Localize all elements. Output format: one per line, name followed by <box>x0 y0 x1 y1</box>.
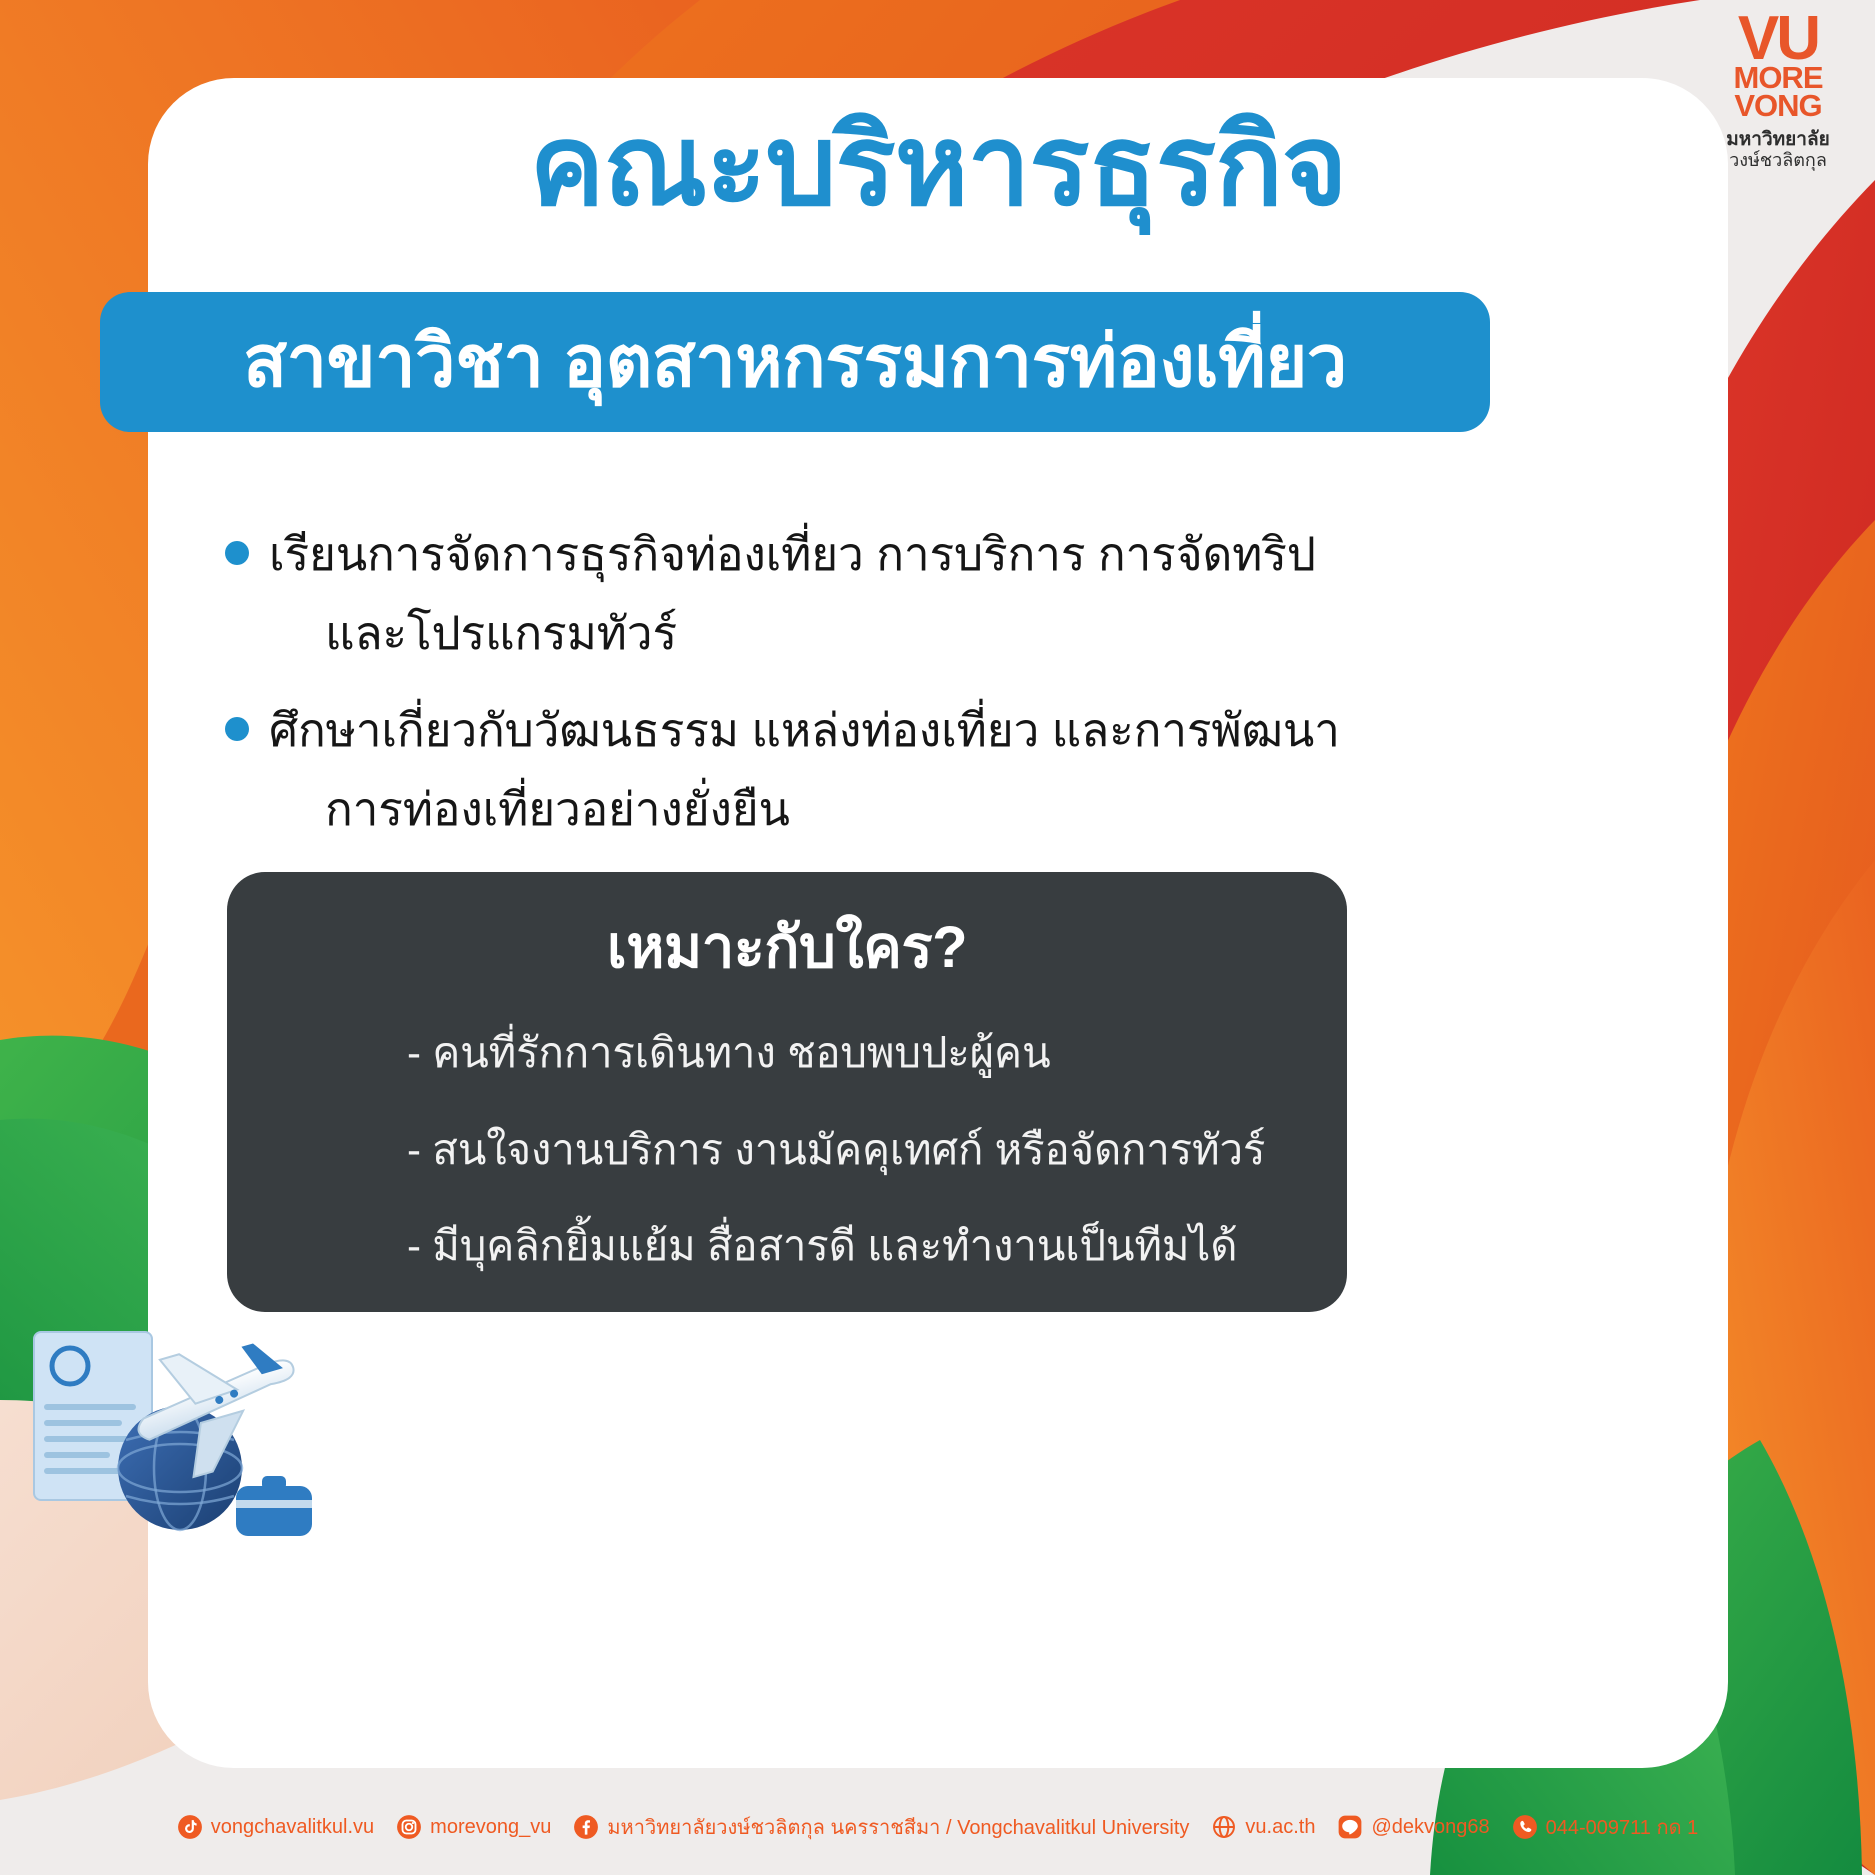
logo-vu-text: VU <box>1703 14 1853 64</box>
bullet-text: ศึกษาเกี่ยวกับวัฒนธรรม แหล่งท่องเที่ยว แ… <box>269 691 1340 849</box>
faculty-title: คณะบริหารธุรกิจ <box>503 96 1372 236</box>
list-item: - สนใจงานบริการ งานมัคคุเทศก์ หรือจัดการ… <box>407 1124 1347 1177</box>
list-item: - คนที่รักการเดินทาง ชอบพบปะผู้คน <box>407 1027 1347 1080</box>
contact-label: @dekvong68 <box>1371 1816 1489 1839</box>
contact-instagram[interactable]: morevong_vu <box>396 1814 551 1840</box>
faculty-title-wrap: คณะบริหารธุรกิจ <box>148 96 1728 236</box>
bullet-line-1: เรียนการจัดการธุรกิจท่องเที่ยว การบริการ… <box>269 528 1316 580</box>
contact-phone[interactable]: 044-009711 กด 1 <box>1512 1811 1699 1843</box>
suitcase-icon <box>236 1476 312 1536</box>
footer-contact-bar: vongchavalitkul.vu morevong_vu มหาวิทยาล… <box>0 1811 1875 1843</box>
bullet-line-2: การท่องเที่ยวอย่างยั่งยืน <box>269 770 1340 849</box>
globe-icon <box>1211 1814 1237 1840</box>
bullet-line-2: และโปรแกรมทัวร์ <box>269 594 1316 673</box>
contact-line[interactable]: @dekvong68 <box>1337 1814 1489 1840</box>
phone-icon <box>1512 1814 1538 1840</box>
contact-label: มหาวิทยาลัยวงษ์ชวลิตกุล นครราชสีมา / Von… <box>607 1811 1189 1843</box>
contact-website[interactable]: vu.ac.th <box>1211 1814 1315 1840</box>
contact-label: vu.ac.th <box>1245 1816 1315 1839</box>
bullet-dot-icon <box>225 541 249 565</box>
logo-thai-line1: มหาวิทยาลัย <box>1703 129 1853 151</box>
bullet-line-1: ศึกษาเกี่ยวกับวัฒนธรรม แหล่งท่องเที่ยว แ… <box>269 704 1340 756</box>
who-panel-list: - คนที่รักการเดินทาง ชอบพบปะผู้คน - สนใจ… <box>227 1027 1347 1273</box>
list-item: เรียนการจัดการธุรกิจท่องเที่ยว การบริการ… <box>225 515 1525 673</box>
instagram-icon <box>396 1814 422 1840</box>
list-item: ศึกษาเกี่ยวกับวัฒนธรรม แหล่งท่องเที่ยว แ… <box>225 691 1525 849</box>
list-item: - มีบุคลิกยิ้มแย้ม สื่อสารดี และทำงานเป็… <box>407 1220 1347 1273</box>
logo-vong-text: VONG <box>1703 92 1853 121</box>
program-highlights-list: เรียนการจัดการธุรกิจท่องเที่ยว การบริการ… <box>225 515 1525 867</box>
who-is-it-for-panel: เหมาะกับใคร? - คนที่รักการเดินทาง ชอบพบป… <box>227 872 1347 1312</box>
contact-label: morevong_vu <box>430 1816 551 1839</box>
travel-illustration <box>22 1300 382 1560</box>
bullet-dot-icon <box>225 717 249 741</box>
bullet-text: เรียนการจัดการธุรกิจท่องเที่ยว การบริการ… <box>269 515 1316 673</box>
contact-facebook[interactable]: มหาวิทยาลัยวงษ์ชวลิตกุล นครราชสีมา / Von… <box>573 1811 1189 1843</box>
contact-label: 044-009711 กด 1 <box>1546 1811 1699 1843</box>
university-logo: VU MORE VONG มหาวิทยาลัย วงษ์ชวลิตกุล <box>1703 14 1853 171</box>
line-icon <box>1337 1814 1363 1840</box>
contact-tiktok[interactable]: vongchavalitkul.vu <box>177 1814 374 1840</box>
contact-label: vongchavalitkul.vu <box>211 1816 374 1839</box>
tiktok-icon <box>177 1814 203 1840</box>
who-panel-title: เหมาะกับใคร? <box>227 910 1347 985</box>
program-banner: สาขาวิชา อุตสาหกรรมการท่องเที่ยว <box>100 292 1490 432</box>
facebook-icon <box>573 1814 599 1840</box>
logo-thai-line2: วงษ์ชวลิตกุล <box>1703 150 1853 171</box>
program-banner-label: สาขาวิชา อุตสาหกรรมการท่องเที่ยว <box>243 321 1347 404</box>
